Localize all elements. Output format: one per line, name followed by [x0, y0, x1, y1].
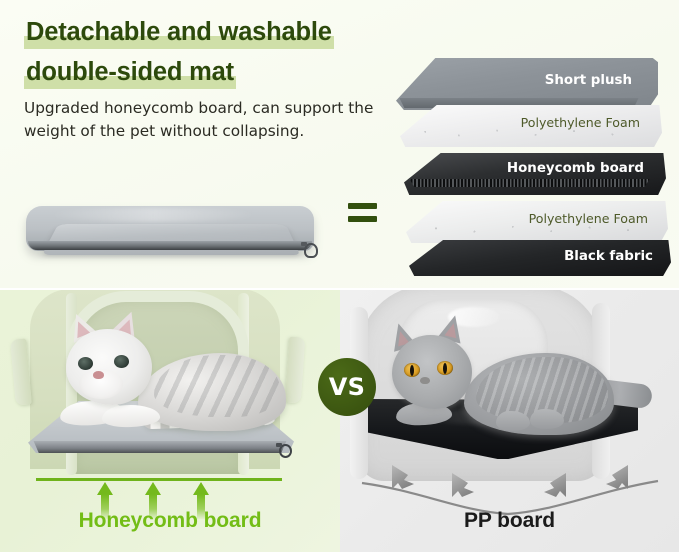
layer-polyethylene-foam-lower: Polyethylene Foam	[406, 201, 668, 243]
headline: Detachable and washable double-sided mat	[24, 14, 404, 91]
carrier-handle-right	[285, 337, 306, 404]
equals-bar-top	[348, 203, 377, 209]
mat-edge	[28, 241, 312, 250]
layer-stack-diagram: Short plush Polyethylene Foam Honeycomb …	[396, 58, 674, 273]
down-arrow-icon	[544, 473, 566, 497]
vs-badge: VS	[318, 358, 376, 416]
cat-eye-right	[114, 355, 129, 368]
cat-eye-left	[78, 357, 93, 370]
white-cat-photo	[46, 305, 286, 445]
layer-black-fabric: Black fabric	[409, 240, 671, 276]
panel-divider	[0, 288, 679, 290]
layer-honeycomb-board: Honeycomb board	[404, 153, 666, 195]
layer-label: Short plush	[545, 72, 632, 89]
mat-top-surface	[42, 224, 300, 255]
layer-label: Polyethylene Foam	[521, 114, 640, 131]
equals-bar-bottom	[348, 216, 377, 222]
subtitle-text: Upgraded honeycomb board, can support th…	[24, 97, 392, 143]
zipper-icon	[276, 443, 291, 457]
equals-sign-icon	[348, 203, 377, 224]
top-panel: Detachable and washable double-sided mat…	[0, 0, 679, 288]
cat-nose	[93, 371, 104, 379]
layer-label: Honeycomb board	[507, 160, 644, 177]
layer-label: Black fabric	[564, 248, 653, 265]
down-arrow-icon	[392, 465, 414, 489]
vs-label: VS	[329, 373, 365, 401]
gray-cat-photo	[384, 315, 634, 445]
cat-paw	[530, 409, 564, 429]
carrier-handle-left	[10, 338, 32, 405]
headline-line-1-text: Detachable and washable	[26, 18, 332, 46]
headline-line-2-text: double-sided mat	[26, 58, 234, 86]
cat-nose	[420, 377, 430, 384]
mat-sheen	[48, 208, 258, 222]
down-arrow-icon	[606, 465, 628, 489]
honeycomb-support-line	[36, 478, 282, 481]
down-arrow-icon	[452, 473, 474, 497]
headline-line-2: double-sided mat	[24, 54, 236, 91]
headline-line-1: Detachable and washable	[24, 14, 334, 51]
corrugated-edge	[407, 179, 652, 187]
cat-paw	[496, 411, 530, 431]
zipper-tab	[301, 242, 307, 246]
product-infographic: Detachable and washable double-sided mat…	[0, 0, 679, 552]
zipper-icon	[301, 242, 317, 257]
layer-short-plush: Short plush	[396, 58, 658, 110]
mat-product-photo	[18, 186, 323, 272]
layer-label: Polyethylene Foam	[529, 210, 648, 227]
label-honeycomb-board: Honeycomb board	[0, 509, 340, 533]
label-pp-board: PP board	[340, 509, 679, 533]
cat-pupil-right	[443, 363, 447, 374]
cat-pupil-left	[410, 365, 414, 376]
layer-polyethylene-foam-upper: Polyethylene Foam	[400, 105, 662, 147]
